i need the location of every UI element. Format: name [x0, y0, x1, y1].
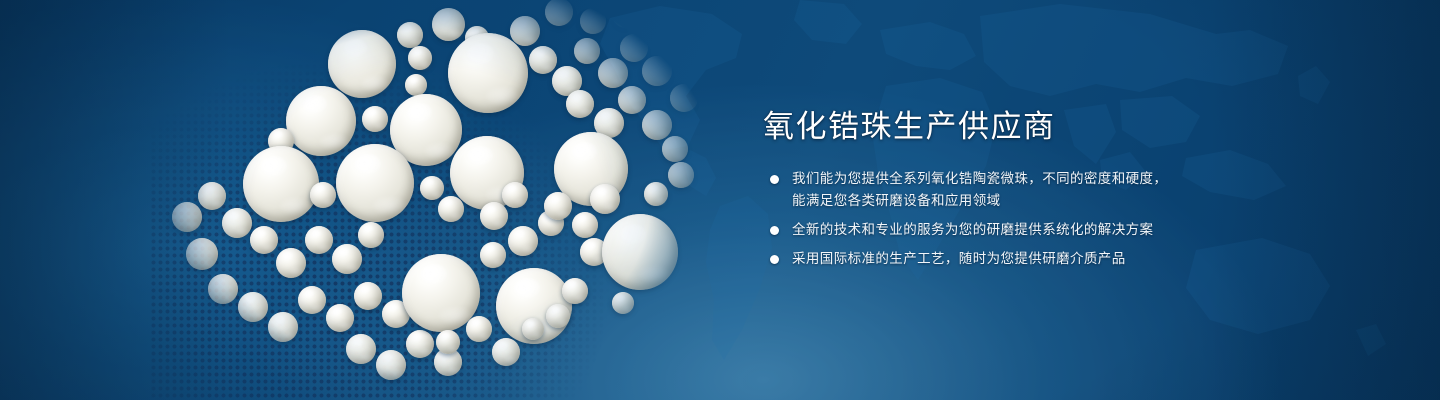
feature-bullet: 采用国际标准的生产工艺，随时为您提供研磨介质产品 [763, 248, 1383, 270]
promo-banner: 氧化锆珠生产供应商 我们能为您提供全系列氧化锆陶瓷微珠，不同的密度和硬度，能满足… [0, 0, 1440, 400]
banner-copy: 氧化锆珠生产供应商 我们能为您提供全系列氧化锆陶瓷微珠，不同的密度和硬度，能满足… [763, 106, 1383, 270]
bullet-text-line: 采用国际标准的生产工艺，随时为您提供研磨介质产品 [792, 248, 1383, 270]
bullet-dot-icon [770, 175, 779, 184]
bullet-dot-icon [770, 255, 779, 264]
bullet-dot-icon [770, 226, 779, 235]
feature-bullet: 我们能为您提供全系列氧化锆陶瓷微珠，不同的密度和硬度，能满足您各类研磨设备和应用… [763, 168, 1383, 212]
feature-bullet-list: 我们能为您提供全系列氧化锆陶瓷微珠，不同的密度和硬度，能满足您各类研磨设备和应用… [763, 168, 1383, 270]
bullet-text-line: 我们能为您提供全系列氧化锆陶瓷微珠，不同的密度和硬度， [792, 168, 1383, 190]
bullet-text-line: 全新的技术和专业的服务为您的研磨提供系统化的解决方案 [792, 219, 1383, 241]
bullet-text-line: 能满足您各类研磨设备和应用领域 [792, 190, 1383, 212]
feature-bullet: 全新的技术和专业的服务为您的研磨提供系统化的解决方案 [763, 219, 1383, 241]
banner-headline: 氧化锆珠生产供应商 [763, 106, 1383, 148]
